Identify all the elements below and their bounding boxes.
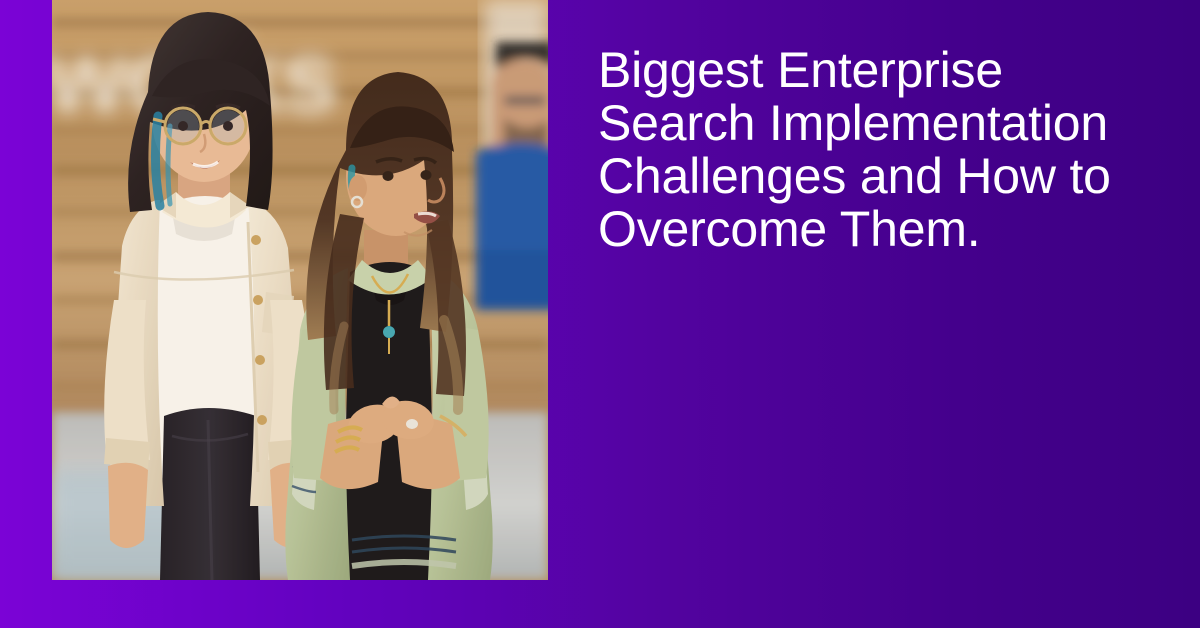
hero-photo-illustration: works bbox=[52, 0, 548, 580]
headline-text: Biggest Enterprise Search Implementation… bbox=[598, 44, 1158, 256]
hero-photo: works bbox=[52, 0, 548, 580]
promo-banner: works bbox=[0, 0, 1200, 628]
headline-container: Biggest Enterprise Search Implementation… bbox=[598, 44, 1158, 256]
